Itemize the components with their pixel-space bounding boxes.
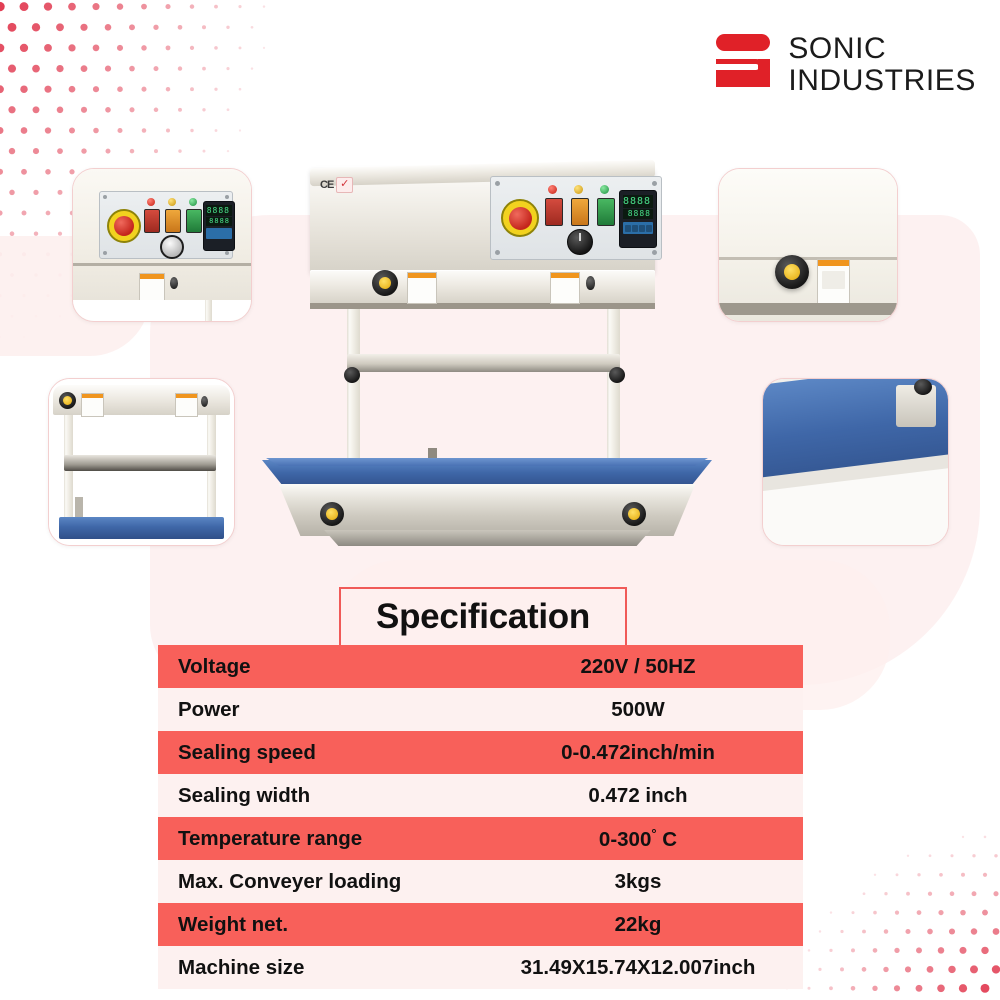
spec-row-label: Power: [178, 698, 240, 722]
support-post-right: [607, 309, 620, 474]
emergency-stop-button[interactable]: [501, 199, 539, 237]
inset-speed-knob: [160, 235, 184, 259]
spec-row-label: Weight net.: [178, 913, 288, 937]
sealing-bar-knob-left[interactable]: [344, 367, 360, 383]
spec-row-label: Sealing width: [178, 784, 310, 808]
inset-conveyor-belt-closeup: [762, 378, 949, 546]
conveyor-knob-right[interactable]: [622, 502, 646, 526]
halftone-dots-bottom-right: [776, 818, 1000, 1000]
support-post-left: [347, 309, 360, 474]
temperature-controller[interactable]: 8888 8888: [619, 190, 657, 248]
spec-row: Voltage220V / 50HZ: [158, 645, 803, 688]
spec-row: Power500W: [158, 688, 803, 731]
switch-conveyor[interactable]: [597, 198, 615, 226]
sealer-head-beam: [310, 270, 655, 304]
inset-adjustment-knob-closeup: [718, 168, 898, 322]
switch-heater[interactable]: [571, 198, 589, 226]
product-spec-poster: SONIC INDUSTRIES CE ✓: [0, 0, 1000, 1000]
spec-row-value: 3kgs: [473, 870, 803, 894]
inset-sealing-frame-view: [48, 378, 235, 546]
sealing-bar-knob-right[interactable]: [609, 367, 625, 383]
indicator-lamp-run: [600, 185, 609, 194]
speed-control-knob[interactable]: [567, 229, 593, 255]
inset-emergency-stop: [107, 209, 141, 243]
spec-row-value: 0.472 inch: [473, 784, 803, 808]
warning-label-left: [407, 272, 437, 304]
ce-mark-icon: CE ✓: [320, 176, 362, 193]
spec-row-label: Machine size: [178, 956, 304, 980]
indicator-lamp-power: [548, 185, 557, 194]
conveyor-knob-left[interactable]: [320, 502, 344, 526]
spec-row-label: Max. Conveyer loading: [178, 870, 401, 894]
main-product-photo: CE ✓: [252, 162, 722, 562]
brand-logo: SONIC INDUSTRIES: [714, 30, 976, 100]
switch-power[interactable]: [545, 198, 563, 226]
spec-row-value: 0-300° C: [473, 826, 803, 852]
specification-table: Voltage220V / 50HZPower500WSealing speed…: [158, 645, 803, 989]
page-title: Specification: [376, 597, 590, 637]
indicator-lamp-heat: [574, 185, 583, 194]
spec-row-value: 0-0.472inch/min: [473, 741, 803, 765]
height-adjust-knob[interactable]: [372, 270, 398, 296]
inset-warning-label: [817, 259, 850, 307]
control-panel[interactable]: 8888 8888: [490, 176, 662, 260]
brand-name-line1: SONIC: [788, 33, 976, 65]
spec-row-label: Temperature range: [178, 827, 362, 851]
spec-row-value: 31.49X15.74X12.007inch: [473, 956, 803, 980]
inset-control-panel-closeup: 8888 8888: [72, 168, 252, 322]
conveyor-underframe: [310, 530, 665, 546]
spec-row-value: 22kg: [473, 913, 803, 937]
spec-row-value: 220V / 50HZ: [473, 655, 803, 679]
spec-row: Sealing width0.472 inch: [158, 774, 803, 817]
brand-name-line2: INDUSTRIES: [788, 65, 976, 97]
spec-row: Sealing speed0-0.472inch/min: [158, 731, 803, 774]
spec-row: Weight net.22kg: [158, 903, 803, 946]
inset-temperature-controller: 8888 8888: [203, 201, 235, 251]
sealer-head-beam-shadow: [310, 303, 655, 309]
spec-row: Max. Conveyer loading3kgs: [158, 860, 803, 903]
spec-row: Machine size31.49X15.74X12.007inch: [158, 946, 803, 989]
key-switch[interactable]: [586, 276, 595, 290]
sonic-s-mark-icon: [714, 30, 772, 100]
spec-row-label: Sealing speed: [178, 741, 316, 765]
sealing-bar: [347, 354, 620, 372]
warning-label-right: [550, 272, 580, 304]
conveyor-belt-highlight: [266, 458, 708, 466]
spec-row-value: 500W: [473, 698, 803, 722]
spec-row: Temperature range0-300° C: [158, 817, 803, 860]
spec-row-label: Voltage: [178, 655, 251, 679]
inset-knob: [775, 255, 809, 289]
specification-title-box: Specification: [339, 587, 627, 647]
